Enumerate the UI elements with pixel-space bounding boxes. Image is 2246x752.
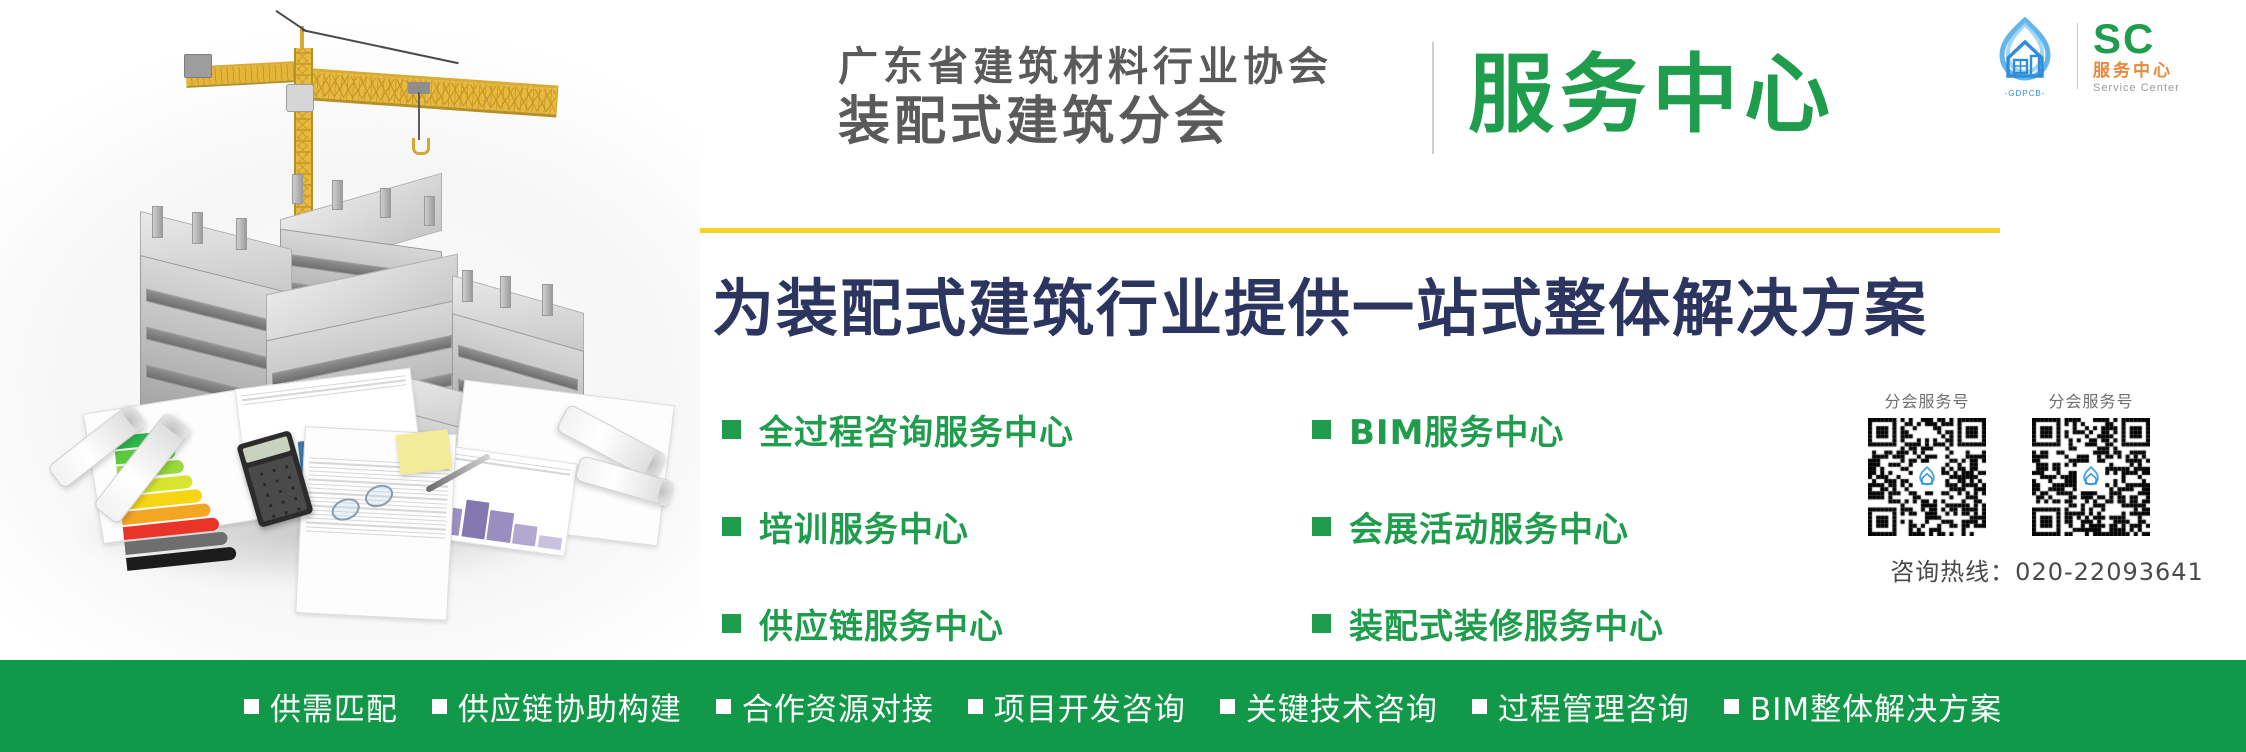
hero-construction-image [0,0,700,660]
service-item[interactable]: BIM服务中心 [1312,405,1782,454]
qr-caption: 分会服务号 [2026,388,2156,412]
logo-divider [2077,23,2078,89]
footer-item-label: 供需匹配 [270,684,398,729]
footer-item[interactable]: 合作资源对接 [716,684,934,729]
bullet-square-icon [1312,517,1331,536]
footer-item-label: 关键技术咨询 [1246,684,1438,729]
footer-item-label: 项目开发咨询 [994,684,1186,729]
service-item[interactable]: 供应链服务中心 [722,599,1312,648]
service-item-label: 装配式装修服务中心 [1349,599,1664,648]
qr-caption: 分会服务号 [1862,388,1992,412]
service-item-label: BIM服务中心 [1349,405,1564,454]
qr-contact-block: 分会服务号 分会服务号 [1862,388,2232,587]
bullet-square-icon [1220,699,1235,714]
association-name-line2: 装配式建筑分会 [838,93,1578,153]
service-center-list: 全过程咨询服务中心 BIM服务中心 培训服务中心 会展活动服务中心 供应链服务中… [722,405,1782,648]
house-flame-logo-icon: -GDPCB- [1988,16,2062,96]
title-divider [1432,42,1434,154]
service-center-title: 服务中心 [1468,42,1836,150]
footer-item-label: BIM整体解决方案 [1750,684,2002,729]
service-item[interactable]: 装配式装修服务中心 [1312,599,1782,648]
qr-code-image[interactable] [2032,418,2150,536]
service-item-label: 会展活动服务中心 [1349,502,1629,551]
association-title: 广东省建筑材料行业协会 装配式建筑分会 [838,44,1578,153]
logo-abbreviation: SC [2093,18,2180,60]
bullet-square-icon [722,420,741,439]
footer-item-label: 过程管理咨询 [1498,684,1690,729]
qr-code-image[interactable] [1868,418,1986,536]
bullet-square-icon [722,614,741,633]
footer-item-label: 供应链协助构建 [458,684,682,729]
footer-item[interactable]: 过程管理咨询 [1472,684,1690,729]
footer-service-bar: 供需匹配 供应链协助构建 合作资源对接 项目开发咨询 关键技术咨询 过程管理咨询… [0,660,2246,752]
qr-code-cell[interactable]: 分会服务号 [2026,388,2156,536]
bullet-square-icon [244,699,259,714]
sticky-note [396,429,452,475]
qr-code-cell[interactable]: 分会服务号 [1862,388,1992,536]
service-item-label: 培训服务中心 [759,502,969,551]
service-item[interactable]: 全过程咨询服务中心 [722,405,1312,454]
footer-item[interactable]: 供应链协助构建 [432,684,682,729]
service-item[interactable]: 培训服务中心 [722,502,1312,551]
bullet-square-icon [968,699,983,714]
tagline: 为装配式建筑行业提供一站式整体解决方案 [712,258,1928,348]
service-item-label: 供应链服务中心 [759,599,1004,648]
association-name-line1: 广东省建筑材料行业协会 [838,44,1578,91]
bullet-square-icon [1724,699,1739,714]
service-item-label: 全过程咨询服务中心 [759,405,1074,454]
yellow-divider-rule [700,228,2000,233]
bullet-square-icon [1312,614,1331,633]
brand-logo[interactable]: -GDPCB- SC 服务中心 Service Center [1988,16,2180,96]
logo-chinese-label: 服务中心 [2093,63,2180,80]
logo-english-label: Service Center [2093,83,2180,94]
bullet-square-icon [1472,699,1487,714]
qr-center-logo-icon [2077,463,2105,491]
promo-banner: 广东省建筑材料行业协会 装配式建筑分会 服务中心 为装配式建筑行业提供一站式整体… [0,0,2246,752]
footer-item[interactable]: 供需匹配 [244,684,398,729]
bullet-square-icon [722,517,741,536]
footer-item-label: 合作资源对接 [742,684,934,729]
logo-mark-text: -GDPCB- [1988,89,2062,98]
hotline-text: 咨询热线：020-22093641 [1862,552,2232,587]
footer-item[interactable]: 关键技术咨询 [1220,684,1438,729]
qr-center-logo-icon [1913,463,1941,491]
service-item[interactable]: 会展活动服务中心 [1312,502,1782,551]
bullet-square-icon [716,699,731,714]
footer-item[interactable]: BIM整体解决方案 [1724,684,2002,729]
bullet-square-icon [1312,420,1331,439]
footer-item[interactable]: 项目开发咨询 [968,684,1186,729]
bullet-square-icon [432,699,447,714]
